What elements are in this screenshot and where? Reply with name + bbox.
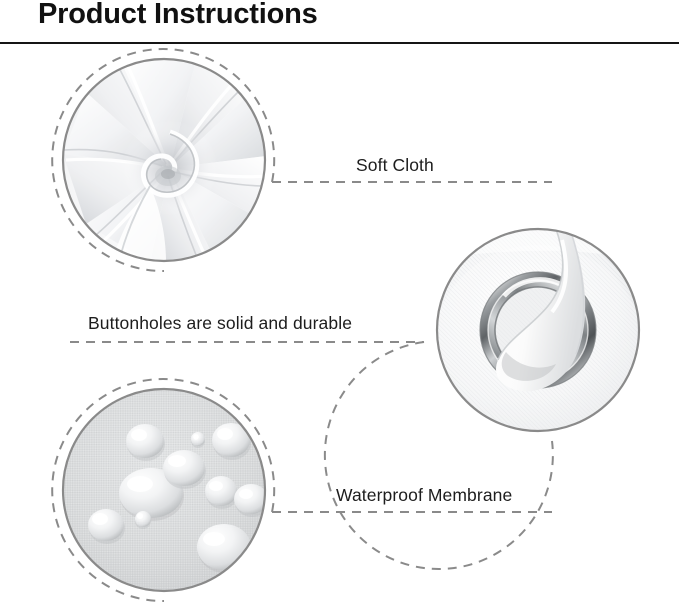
fabric-swirl-photo bbox=[63, 59, 266, 263]
callout-label-buttonholes: Buttonholes are solid and durable bbox=[88, 313, 352, 334]
callout-label-waterproof-membrane: Waterproof Membrane bbox=[336, 485, 512, 506]
water-droplets-photo bbox=[63, 389, 269, 591]
grommet-eyelet-photo bbox=[434, 229, 642, 445]
illustration-layer bbox=[0, 0, 679, 616]
callout-label-soft-cloth: Soft Cloth bbox=[356, 155, 434, 176]
infographic-root: Product Instructions bbox=[0, 0, 679, 616]
